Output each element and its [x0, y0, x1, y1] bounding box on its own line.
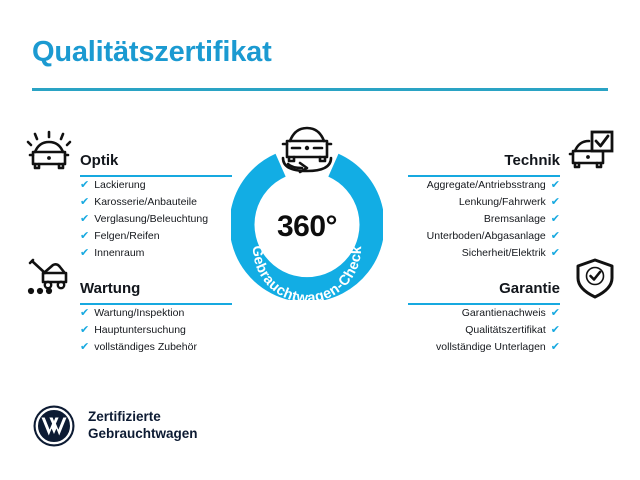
section-garantie: Garantie Garantienachweis ✔ Qualitätszer… [408, 271, 560, 356]
section-wartung-divider [80, 303, 232, 305]
list-item: vollständige Unterlagen ✔ [408, 339, 560, 356]
list-item: Lenkung/Fahrwerk ✔ [408, 194, 560, 211]
brand-lockup: Zertifizierte Gebrauchtwagen [32, 404, 198, 448]
section-wartung: Wartung ✔ Wartung/Inspektion ✔ Hauptunte… [80, 271, 232, 356]
check-icon: ✔ [551, 197, 560, 208]
section-optik-head: Optik [80, 143, 232, 177]
list-item: Qualitätszertifikat ✔ [408, 322, 560, 339]
shield-check-icon [572, 258, 618, 300]
check-icon: ✔ [80, 308, 89, 319]
list-item-label: Sicherheit/Elektrik [462, 248, 546, 259]
section-technik-title: Technik [504, 152, 560, 169]
brand-text: Zertifizierte Gebrauchtwagen [88, 409, 198, 443]
check-icon: ✔ [80, 325, 89, 336]
brand-line-1: Zertifizierte [88, 409, 198, 426]
list-item-label: Verglasung/Beleuchtung [94, 214, 208, 225]
check-icon: ✔ [80, 231, 89, 242]
check-icon: ✔ [80, 214, 89, 225]
list-item: ✔ Karosserie/Anbauteile [80, 194, 232, 211]
page-title: Qualitätszertifikat [32, 36, 272, 69]
list-item-label: Garantienachweis [462, 308, 546, 319]
section-optik-items: ✔ Lackierung ✔ Karosserie/Anbauteile ✔ V… [80, 177, 232, 262]
section-garantie-title: Garantie [499, 280, 560, 297]
section-optik: Optik ✔ Lackierung ✔ Karosserie/Anbautei… [80, 143, 232, 262]
section-garantie-items: Garantienachweis ✔ Qualitätszertifikat ✔… [408, 305, 560, 356]
list-item: ✔ Verglasung/Beleuchtung [80, 211, 232, 228]
section-wartung-items: ✔ Wartung/Inspektion ✔ Hauptuntersuchung… [80, 305, 232, 356]
check-icon: ✔ [80, 248, 89, 259]
section-technik-divider [408, 175, 560, 177]
section-wartung-head: Wartung [80, 271, 232, 305]
check-icon: ✔ [551, 325, 560, 336]
list-item-label: Aggregate/Antriebsstrang [427, 180, 546, 191]
check-icon: ✔ [551, 214, 560, 225]
svg-text:Gebrauchtwagen-Check: Gebrauchtwagen-Check [249, 245, 365, 300]
section-wartung-title: Wartung [80, 280, 140, 297]
section-technik-head: Technik [408, 143, 560, 177]
check-icon: ✔ [551, 180, 560, 191]
list-item: ✔ vollständiges Zubehör [80, 339, 232, 356]
section-garantie-divider [408, 303, 560, 305]
list-item: Sicherheit/Elektrik ✔ [408, 245, 560, 262]
car-checkbox-icon [568, 130, 614, 172]
section-garantie-head: Garantie [408, 271, 560, 305]
brand-line-2: Gebrauchtwagen [88, 426, 198, 443]
list-item-label: Hauptuntersuchung [94, 325, 186, 336]
list-item-label: Felgen/Reifen [94, 231, 159, 242]
list-item: ✔ Lackierung [80, 177, 232, 194]
check-icon: ✔ [551, 308, 560, 319]
list-item-label: Unterboden/Abgasanlage [427, 231, 546, 242]
list-item: ✔ Hauptuntersuchung [80, 322, 232, 339]
list-item-label: vollständiges Zubehör [94, 342, 197, 353]
list-item: Garantienachweis ✔ [408, 305, 560, 322]
car-shine-icon [26, 130, 72, 172]
list-item-label: Lackierung [94, 180, 145, 191]
check-icon: ✔ [551, 342, 560, 353]
list-item-label: Qualitätszertifikat [465, 325, 546, 336]
list-item-label: Karosserie/Anbauteile [94, 197, 197, 208]
certificate-page: Qualitätszertifikat Optik [0, 0, 640, 480]
check-icon: ✔ [80, 342, 89, 353]
check-icon: ✔ [80, 197, 89, 208]
list-item: Aggregate/Antriebsstrang ✔ [408, 177, 560, 194]
list-item: ✔ Wartung/Inspektion [80, 305, 232, 322]
check-icon: ✔ [551, 231, 560, 242]
badge-center-label: 360° [231, 210, 383, 244]
car-oil-service-icon [26, 258, 72, 300]
header-divider [32, 88, 608, 91]
list-item-label: Bremsanlage [484, 214, 546, 225]
section-technik-items: Aggregate/Antriebsstrang ✔ Lenkung/Fahrw… [408, 177, 560, 262]
list-item: Unterboden/Abgasanlage ✔ [408, 228, 560, 245]
list-item-label: Lenkung/Fahrwerk [459, 197, 546, 208]
section-optik-divider [80, 175, 232, 177]
section-technik: Technik Aggregate/Antriebsstrang ✔ Lenku… [408, 143, 560, 262]
list-item-label: vollständige Unterlagen [436, 342, 546, 353]
section-optik-title: Optik [80, 152, 118, 169]
list-item: ✔ Innenraum [80, 245, 232, 262]
list-item: Bremsanlage ✔ [408, 211, 560, 228]
badge-ring-label: Gebrauchtwagen-Check [249, 245, 365, 300]
car-rotate-360-icon [272, 121, 342, 177]
list-item: ✔ Felgen/Reifen [80, 228, 232, 245]
check-icon: ✔ [551, 248, 560, 259]
list-item-label: Wartung/Inspektion [94, 308, 184, 319]
vw-logo-icon [32, 404, 76, 448]
check-icon: ✔ [80, 180, 89, 191]
list-item-label: Innenraum [94, 248, 144, 259]
